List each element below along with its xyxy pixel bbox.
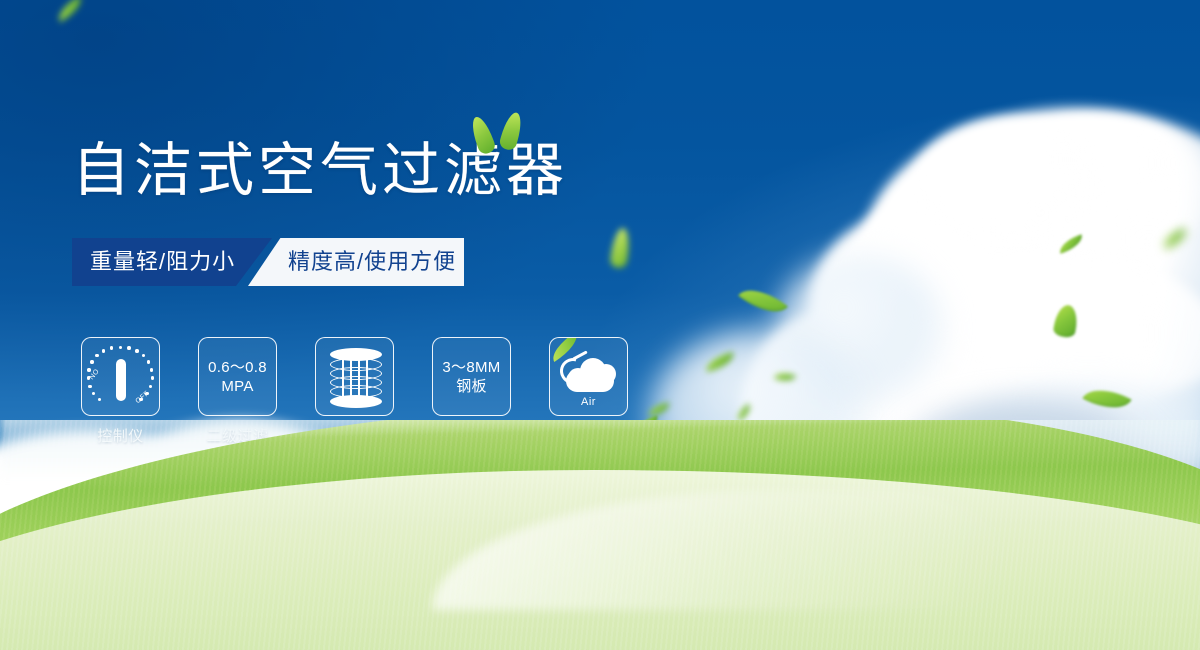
grass-texture [0,420,1200,650]
subtitle-right-text: 精度高/使用方便 [288,238,456,286]
air-label: Air [558,396,620,408]
sprout-leaf-right [498,110,525,151]
cloud-puff [915,118,1105,248]
air-cloud-graphic: Air [558,348,620,406]
subtitle-bar: 重量轻/阻力小 精度高/使用方便 [72,238,464,286]
steel-plate-icon: 3～8MM 钢板 [432,337,511,416]
gauge-dial-icon: NO OFF [81,337,160,416]
gauge-graphic: NO OFF [87,343,155,411]
gauge-label-off: OFF [135,389,151,404]
cartridge-graphic [326,346,384,408]
pressure-value-icon: 0.6～0.8 MPA [198,337,277,416]
air-cloud-icon: Air [549,337,628,416]
steel-plate-text: 3～8MM 钢板 [442,358,500,396]
filter-cartridge-icon [315,337,394,416]
gauge-needle [116,359,126,401]
banner-stage: 自洁式空气过滤器 重量轻/阻力小 精度高/使用方便 [0,0,1200,650]
subtitle-left-text: 重量轻/阻力小 [90,238,235,286]
grass-field [0,420,1200,650]
pressure-value-text: 0.6～0.8 MPA [208,358,267,396]
sprout-leaves-icon [470,110,530,156]
sprout-leaf-left [468,114,497,156]
